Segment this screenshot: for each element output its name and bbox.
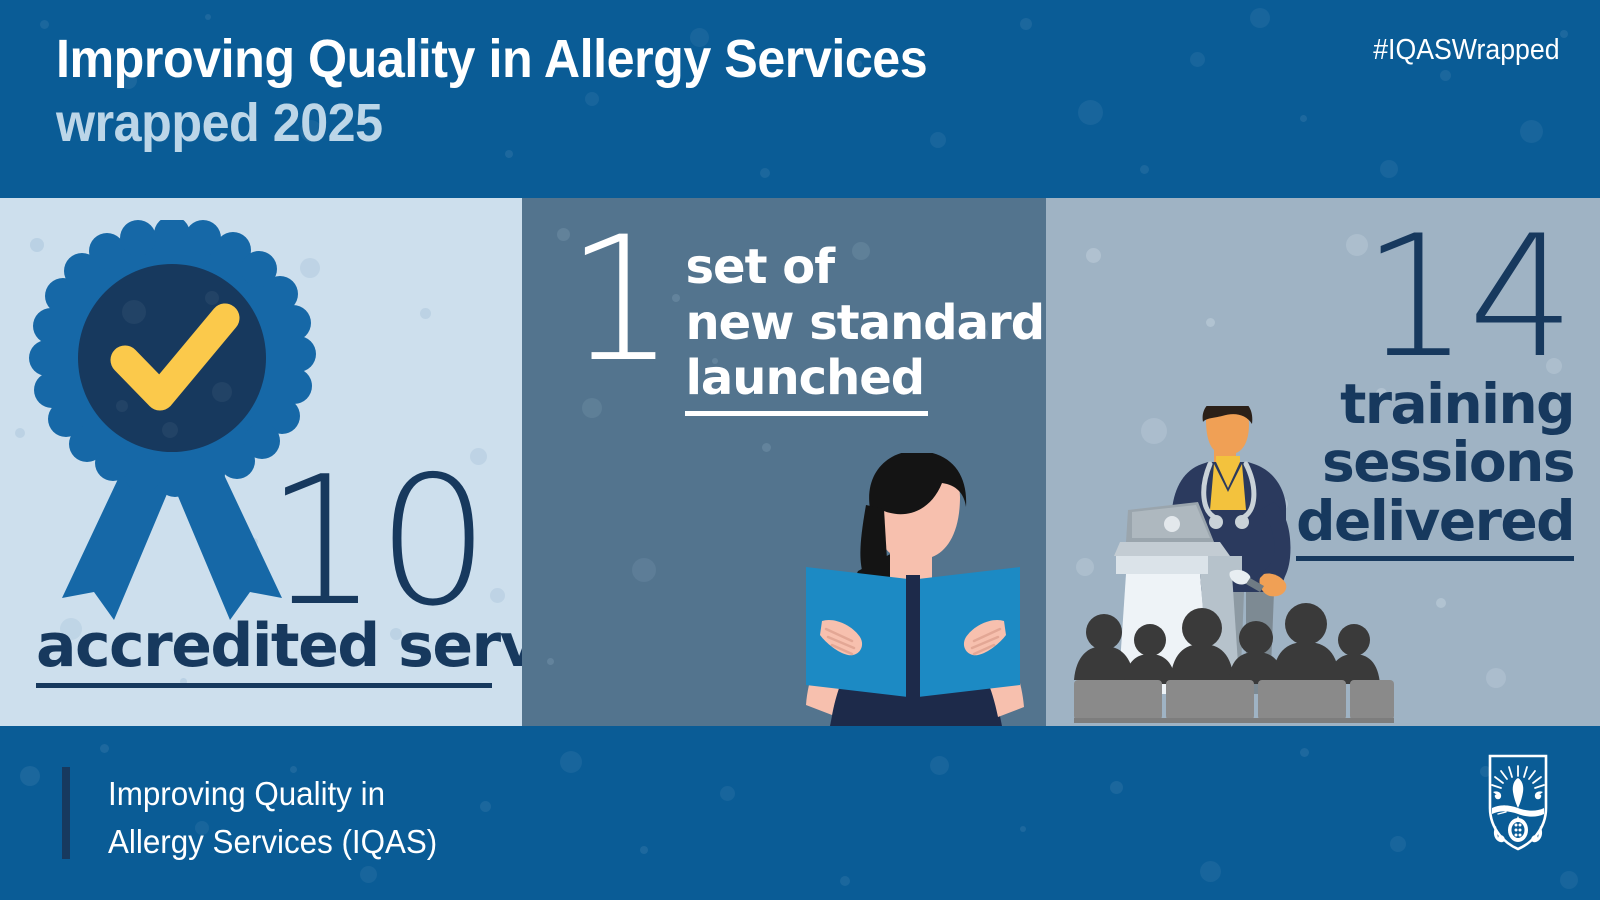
footer-brand-line-1: Improving Quality in: [108, 770, 437, 818]
stat-panel-accredited-services: 10 accredited services: [0, 198, 522, 726]
stat-caption-line-2: sessions: [1322, 433, 1574, 492]
footer-brand-line-2: Allergy Services (IQAS): [108, 818, 437, 866]
stat-panel-training-sessions: 14 training sessions delivered: [1046, 198, 1600, 726]
stat-number-training: 14: [1362, 220, 1574, 375]
stat-panel-new-standards: 1 set of new standards launched: [522, 198, 1046, 726]
stat-caption-accredited-wrap: accredited services: [36, 616, 492, 688]
page-title: Improving Quality in Allergy Services: [56, 30, 927, 88]
header-title-group: Improving Quality in Allergy Services wr…: [56, 30, 993, 153]
stat-caption-accredited: accredited services: [36, 616, 492, 676]
stat-caption-line-3: delivered: [1296, 492, 1574, 561]
stat-caption-line-2: new standards: [685, 296, 1046, 352]
footer-accent-bar: [62, 767, 70, 859]
stat-caption-line-3: launched: [685, 351, 928, 416]
stat-caption-line-1: training: [1340, 375, 1574, 434]
stat-text-new-standards: 1 set of new standards launched: [566, 230, 1046, 416]
stat-number-accredited: 10: [266, 453, 489, 631]
rcp-crest-shield-icon: [1478, 750, 1558, 854]
stat-caption-line-1: set of: [685, 240, 1046, 296]
hashtag-label: #IQASWrapped: [1374, 34, 1560, 67]
stat-number-standards: 1: [566, 224, 675, 375]
page-subtitle: wrapped 2025: [56, 94, 927, 152]
stat-caption-standards-lines: set of new standards launched: [685, 230, 1046, 416]
footer-brand-name: Improving Quality in Allergy Services (I…: [108, 770, 437, 866]
infographic-canvas: Improving Quality in Allergy Services wr…: [0, 0, 1600, 900]
person-reading-book-icon: [780, 453, 1046, 726]
footer-banner: Improving Quality in Allergy Services (I…: [0, 726, 1600, 900]
header-banner: Improving Quality in Allergy Services wr…: [0, 0, 1600, 198]
stat-text-training: 14 training sessions delivered: [1296, 220, 1574, 561]
